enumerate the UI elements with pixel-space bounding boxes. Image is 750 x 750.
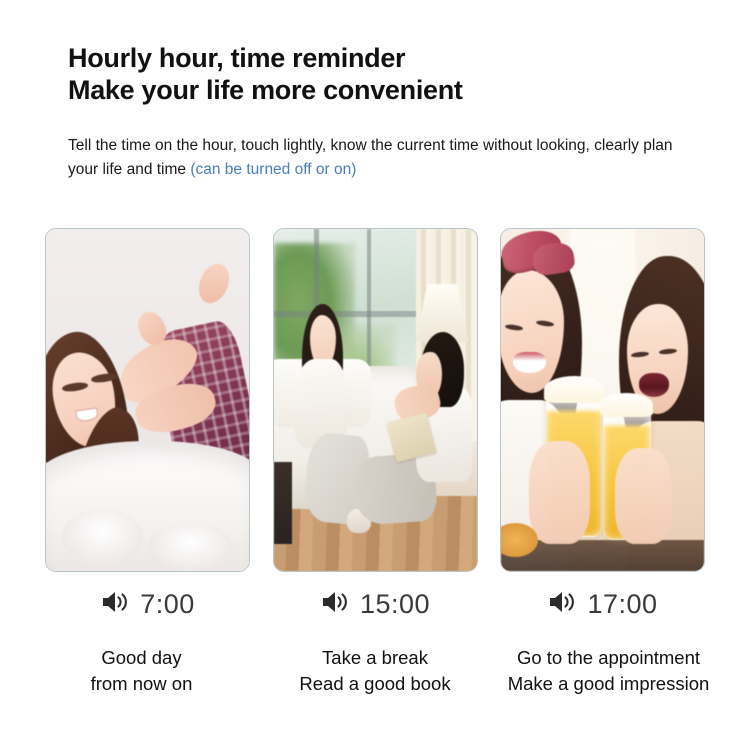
time-label: 17:00: [587, 591, 657, 618]
page-title: Hourly hour, time reminder Make your lif…: [68, 42, 688, 106]
time-row: 7:00 15:00 17:00: [45, 583, 705, 625]
subtitle-highlight: (can be turned off or on): [190, 161, 356, 178]
speaker-icon: [320, 589, 350, 620]
image-card-morning[interactable]: [45, 228, 250, 572]
caption-line-1: Go to the appointment: [492, 645, 725, 671]
time-label: 7:00: [140, 591, 195, 618]
time-label: 15:00: [360, 591, 430, 618]
photo-appointment: [501, 229, 704, 571]
image-card-break[interactable]: [273, 228, 478, 572]
speaker-icon: [547, 589, 577, 620]
caption-line-1: Good day: [25, 645, 258, 671]
promo-page: Hourly hour, time reminder Make your lif…: [0, 0, 750, 750]
time-cell-break: 15:00: [273, 583, 478, 625]
card-row: [45, 228, 705, 572]
caption-line-1: Take a break: [259, 645, 492, 671]
image-card-appointment[interactable]: [500, 228, 705, 572]
photo-morning: [46, 229, 249, 571]
title-line-1: Hourly hour, time reminder: [68, 42, 688, 74]
subtitle-text: Tell the time on the hour, touch lightly…: [68, 137, 673, 178]
speaker-icon: [100, 589, 130, 620]
caption-line-2: Make a good impression: [492, 671, 725, 697]
caption-break: Take a break Read a good book: [259, 645, 492, 697]
photo-break: [274, 229, 477, 571]
time-cell-appointment: 17:00: [500, 583, 705, 625]
caption-row: Good day from now on Take a break Read a…: [25, 645, 725, 697]
time-cell-morning: 7:00: [45, 583, 250, 625]
title-line-2: Make your life more convenient: [68, 74, 688, 106]
caption-appointment: Go to the appointment Make a good impres…: [492, 645, 725, 697]
caption-line-2: Read a good book: [259, 671, 492, 697]
caption-line-2: from now on: [25, 671, 258, 697]
subtitle: Tell the time on the hour, touch lightly…: [68, 134, 678, 182]
caption-morning: Good day from now on: [25, 645, 258, 697]
